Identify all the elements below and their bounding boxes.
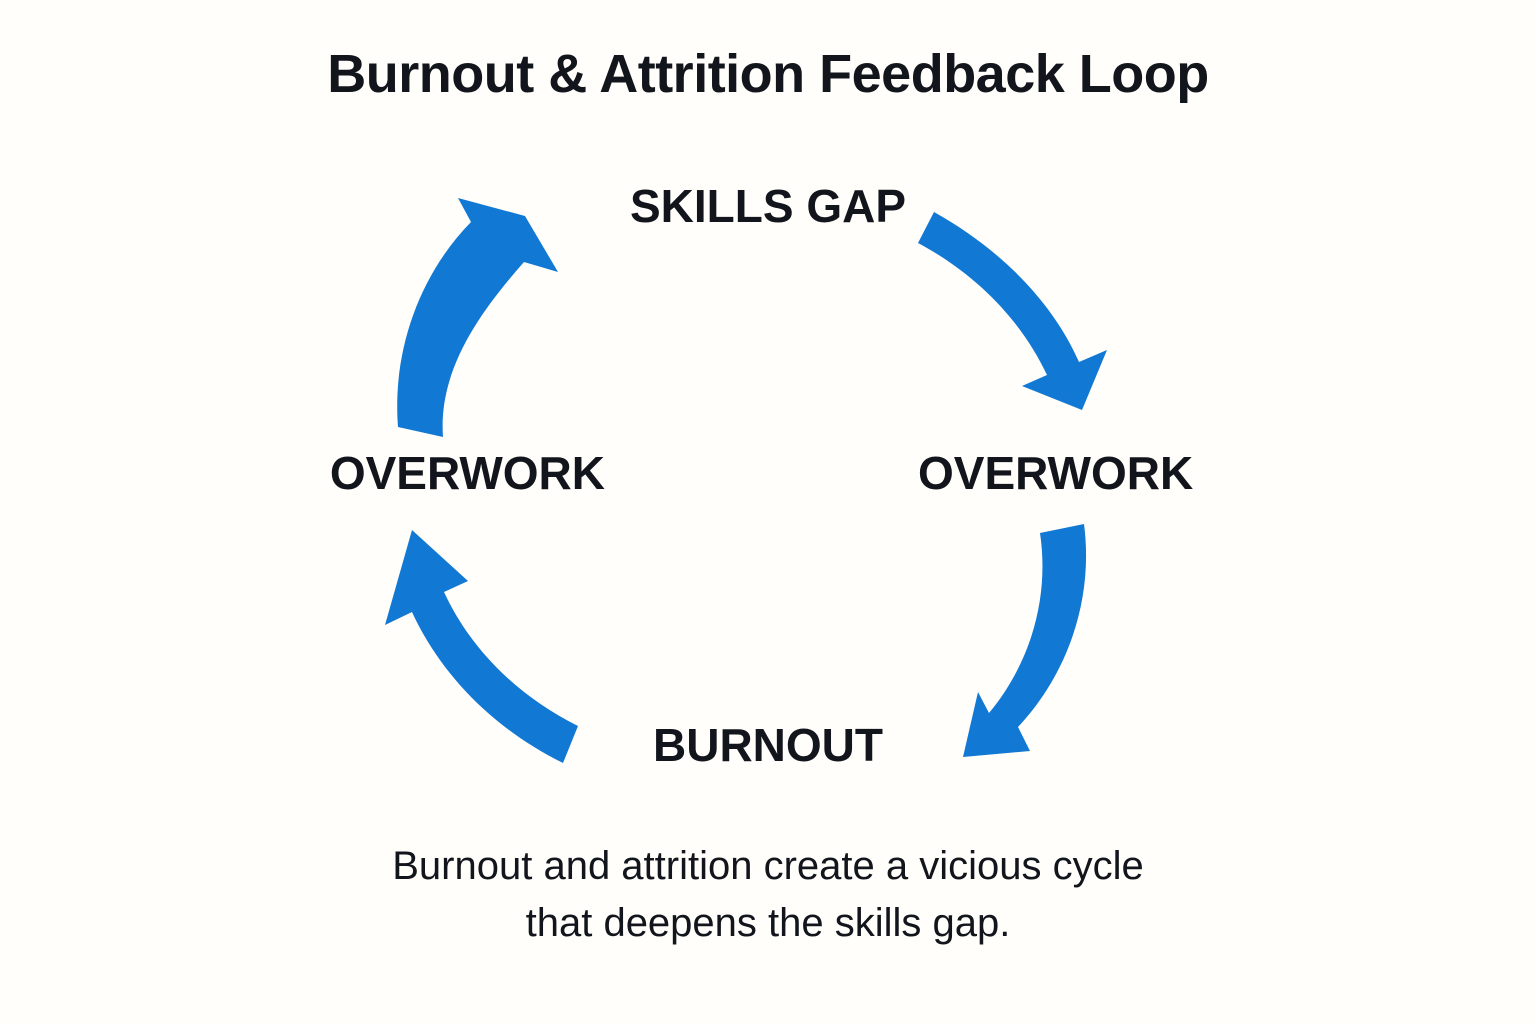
caption-line-2: that deepens the skills gap. (268, 895, 1268, 952)
cycle-node-burnout: BURNOUT (0, 722, 1536, 768)
caption: Burnout and attrition create a vicious c… (268, 838, 1268, 952)
caption-line-1: Burnout and attrition create a vicious c… (268, 838, 1268, 895)
page-title: Burnout & Attrition Feedback Loop (0, 47, 1536, 101)
arrow-skills-gap-to-overwork-right-icon (918, 212, 1107, 410)
cycle-node-overwork-left: OVERWORK (68, 450, 768, 496)
cycle-node-overwork-right: OVERWORK (768, 450, 1468, 496)
arrow-overwork-left-to-skills-gap-icon (397, 198, 558, 437)
cycle-node-skills-gap: SKILLS GAP (0, 183, 1536, 229)
diagram-canvas: Burnout & Attrition Feedback Loop SKILLS… (0, 0, 1536, 1024)
